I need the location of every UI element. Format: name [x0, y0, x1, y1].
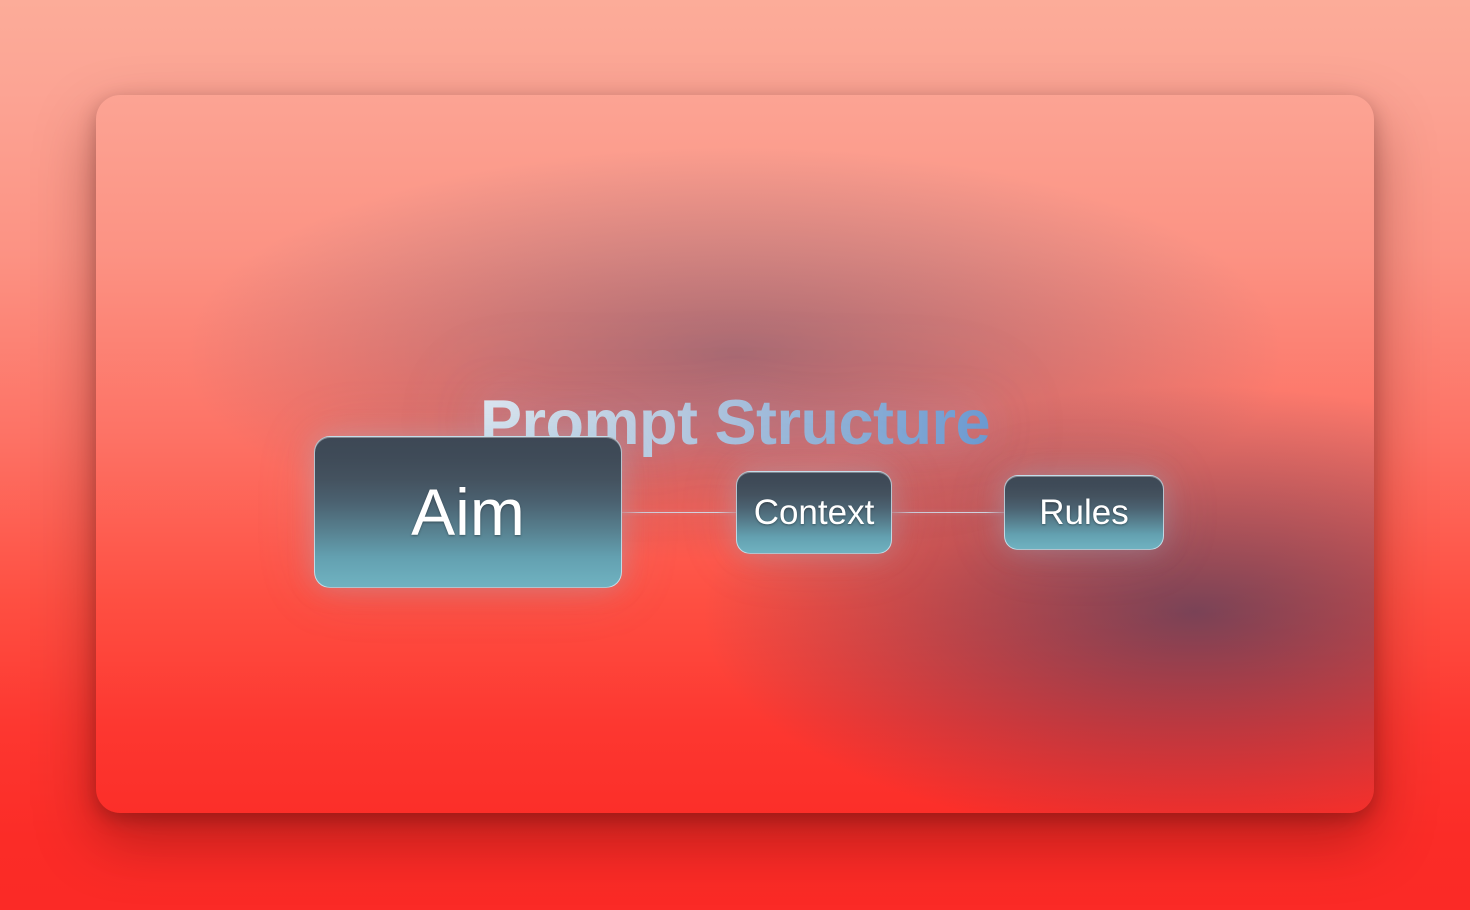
diagram-node-aim-label: Aim: [411, 474, 525, 550]
slide-card: Prompt Structure Aim Context Rules: [96, 95, 1374, 813]
page-title: Prompt Structure: [96, 387, 1374, 459]
diagram-node-context-label: Context: [754, 493, 875, 533]
diagram-node-rules-label: Rules: [1039, 493, 1128, 533]
diagram-node-rules[interactable]: Rules: [1004, 475, 1164, 550]
connector-aim-to-context: [621, 512, 738, 513]
slide-canvas: Prompt Structure Aim Context Rules: [0, 0, 1470, 910]
diagram-node-context[interactable]: Context: [736, 471, 892, 554]
connector-context-to-rules: [891, 512, 1006, 513]
